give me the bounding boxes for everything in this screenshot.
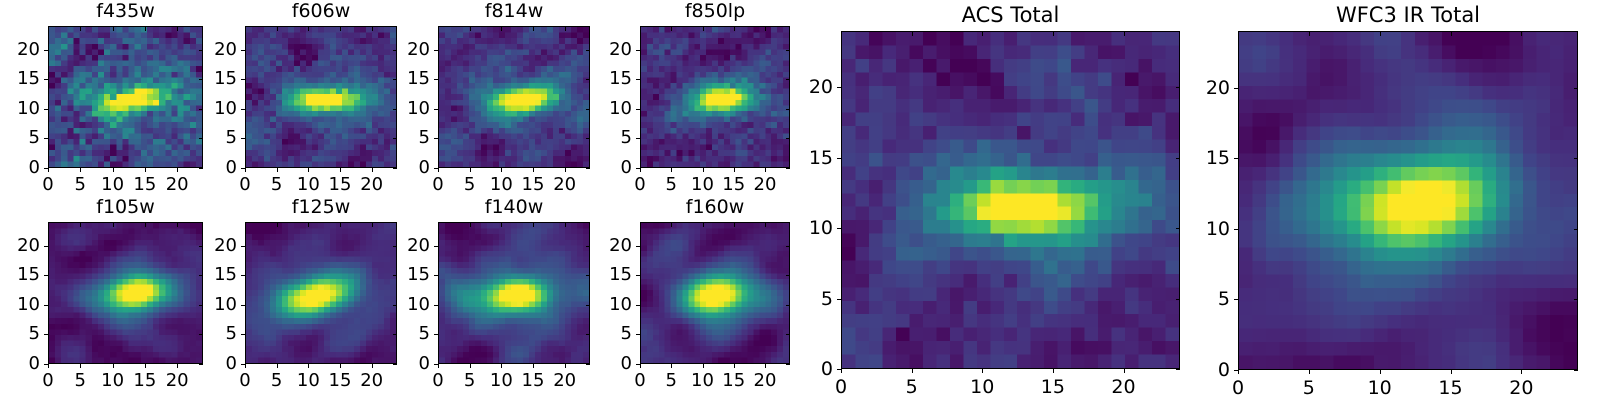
heatmap-canvas-f814w bbox=[439, 27, 589, 167]
heatmap-canvas-acs-total bbox=[842, 32, 1179, 368]
yticklabel-f814w-10: 10 bbox=[366, 100, 430, 118]
xtick-top-f606w-20 bbox=[372, 27, 373, 31]
ytick-wfc3-ir-total-10 bbox=[1234, 229, 1238, 230]
xtick-top-wfc3-ir-total-5 bbox=[1309, 32, 1310, 36]
xtick-top-acs-total-10 bbox=[982, 32, 983, 36]
ytick-f125w-5 bbox=[241, 334, 245, 335]
xtick-top-f105w-0 bbox=[48, 223, 49, 227]
xtick-top-acs-total-5 bbox=[912, 32, 913, 36]
xtick-f140w-5 bbox=[470, 364, 471, 368]
yticklabel-f140w-15: 15 bbox=[366, 266, 430, 284]
yticklabel-wfc3-ir-total-10: 10 bbox=[1166, 220, 1230, 239]
yticklabel-f105w-0: 0 bbox=[0, 355, 40, 373]
ytick-f105w-0 bbox=[44, 364, 48, 365]
yticklabel-f435w-20: 20 bbox=[0, 41, 40, 59]
yticklabel-f435w-15: 15 bbox=[0, 70, 40, 88]
xtick-top-f140w-20 bbox=[565, 223, 566, 227]
xtick-top-f435w-5 bbox=[80, 27, 81, 31]
xticklabel-f105w-20: 20 bbox=[147, 372, 207, 390]
xtick-f435w-5 bbox=[80, 168, 81, 172]
xtick-f125w-15 bbox=[340, 364, 341, 368]
yticklabel-f140w-10: 10 bbox=[366, 296, 430, 314]
ytick-f125w-10 bbox=[241, 305, 245, 306]
xtick-acs-total-5 bbox=[912, 369, 913, 373]
ytick-f140w-5 bbox=[434, 334, 438, 335]
yticklabel-f160w-5: 5 bbox=[568, 325, 632, 343]
xtick-f814w-20 bbox=[565, 168, 566, 172]
heatmap-canvas-f850lp bbox=[641, 27, 789, 167]
yticklabel-f435w-5: 5 bbox=[0, 129, 40, 147]
ytick-f435w-20 bbox=[44, 50, 48, 51]
ytick-acs-total-10 bbox=[837, 228, 841, 229]
xtick-top-f160w-10 bbox=[703, 223, 704, 227]
xtick-f435w-15 bbox=[145, 168, 146, 172]
xtick-f140w-0 bbox=[438, 364, 439, 368]
xtick-top-f125w-15 bbox=[340, 223, 341, 227]
xtick-top-acs-total-15 bbox=[1053, 32, 1054, 36]
yticklabel-f160w-15: 15 bbox=[568, 266, 632, 284]
ytick-f850lp-0 bbox=[636, 168, 640, 169]
heatmap-image-f160w bbox=[640, 222, 790, 364]
xtick-top-f125w-5 bbox=[277, 223, 278, 227]
panel-title-f140w: f140w bbox=[438, 198, 590, 217]
yticklabel-f105w-10: 10 bbox=[0, 296, 40, 314]
xtick-f125w-5 bbox=[277, 364, 278, 368]
ytick-f606w-20 bbox=[241, 50, 245, 51]
xtick-top-f850lp-5 bbox=[671, 27, 672, 31]
ytick-f814w-20 bbox=[434, 50, 438, 51]
ytick-acs-total-15 bbox=[837, 158, 841, 159]
ytick-f105w-5 bbox=[44, 334, 48, 335]
ytick-f814w-15 bbox=[434, 79, 438, 80]
ytick-right-f850lp-5 bbox=[786, 138, 790, 139]
ytick-f140w-15 bbox=[434, 275, 438, 276]
xticklabel-acs-total-20: 20 bbox=[1094, 378, 1154, 397]
heatmap-image-acs-total bbox=[841, 31, 1180, 369]
ytick-f160w-10 bbox=[636, 305, 640, 306]
xtick-top-f105w-5 bbox=[80, 223, 81, 227]
xtick-acs-total-10 bbox=[982, 369, 983, 373]
yticklabel-f850lp-15: 15 bbox=[568, 70, 632, 88]
heatmap-canvas-wfc3-ir-total bbox=[1239, 32, 1577, 369]
yticklabel-f125w-0: 0 bbox=[173, 355, 237, 373]
ytick-wfc3-ir-total-15 bbox=[1234, 158, 1238, 159]
xtick-f160w-15 bbox=[734, 364, 735, 368]
ytick-f814w-0 bbox=[434, 168, 438, 169]
ytick-right-f160w-20 bbox=[786, 246, 790, 247]
xtick-f814w-5 bbox=[470, 168, 471, 172]
ytick-right-f850lp-10 bbox=[786, 109, 790, 110]
xtick-top-f140w-5 bbox=[470, 223, 471, 227]
xtick-top-f850lp-15 bbox=[734, 27, 735, 31]
ytick-right-f160w-5 bbox=[786, 334, 790, 335]
ytick-acs-total-20 bbox=[837, 87, 841, 88]
xtick-f814w-15 bbox=[533, 168, 534, 172]
heatmap-canvas-f160w bbox=[641, 223, 789, 363]
xtick-f105w-0 bbox=[48, 364, 49, 368]
yticklabel-f125w-10: 10 bbox=[173, 296, 237, 314]
xtick-top-f814w-0 bbox=[438, 27, 439, 31]
yticklabel-f125w-5: 5 bbox=[173, 325, 237, 343]
xtick-f814w-10 bbox=[501, 168, 502, 172]
yticklabel-acs-total-20: 20 bbox=[769, 78, 833, 97]
yticklabel-f160w-20: 20 bbox=[568, 237, 632, 255]
panel-title-wfc3-ir-total: WFC3 IR Total bbox=[1238, 5, 1578, 26]
xtick-wfc3-ir-total-10 bbox=[1380, 370, 1381, 374]
yticklabel-wfc3-ir-total-15: 15 bbox=[1166, 149, 1230, 168]
xtick-f125w-10 bbox=[308, 364, 309, 368]
xtick-top-f160w-0 bbox=[640, 223, 641, 227]
xtick-wfc3-ir-total-0 bbox=[1238, 370, 1239, 374]
xtick-f140w-15 bbox=[533, 364, 534, 368]
xtick-acs-total-15 bbox=[1053, 369, 1054, 373]
xtick-wfc3-ir-total-20 bbox=[1521, 370, 1522, 374]
xtick-top-f606w-0 bbox=[245, 27, 246, 31]
ytick-f125w-15 bbox=[241, 275, 245, 276]
ytick-f850lp-10 bbox=[636, 109, 640, 110]
ytick-f814w-5 bbox=[434, 138, 438, 139]
xtick-top-f814w-15 bbox=[533, 27, 534, 31]
panel-title-f814w: f814w bbox=[438, 2, 590, 21]
ytick-f606w-15 bbox=[241, 79, 245, 80]
ytick-f140w-10 bbox=[434, 305, 438, 306]
yticklabel-f435w-10: 10 bbox=[0, 100, 40, 118]
yticklabel-f606w-0: 0 bbox=[173, 159, 237, 177]
xtick-top-f105w-15 bbox=[145, 223, 146, 227]
xtick-wfc3-ir-total-5 bbox=[1309, 370, 1310, 374]
xticklabel-f125w-20: 20 bbox=[342, 372, 402, 390]
yticklabel-f105w-5: 5 bbox=[0, 325, 40, 343]
yticklabel-f105w-15: 15 bbox=[0, 266, 40, 284]
xticklabel-wfc3-ir-total-15: 15 bbox=[1421, 379, 1481, 398]
ytick-acs-total-0 bbox=[837, 369, 841, 370]
ytick-f160w-5 bbox=[636, 334, 640, 335]
xtick-f606w-0 bbox=[245, 168, 246, 172]
yticklabel-f105w-20: 20 bbox=[0, 237, 40, 255]
xtick-f606w-15 bbox=[340, 168, 341, 172]
xtick-f140w-10 bbox=[501, 364, 502, 368]
ytick-f435w-0 bbox=[44, 168, 48, 169]
xtick-wfc3-ir-total-15 bbox=[1451, 370, 1452, 374]
ytick-right-f160w-15 bbox=[786, 275, 790, 276]
xtick-top-f125w-20 bbox=[372, 223, 373, 227]
yticklabel-f140w-0: 0 bbox=[366, 355, 430, 373]
panel-title-f105w: f105w bbox=[48, 198, 203, 217]
yticklabel-f814w-5: 5 bbox=[366, 129, 430, 147]
panel-title-f125w: f125w bbox=[245, 198, 397, 217]
xtick-top-f140w-10 bbox=[501, 223, 502, 227]
xticklabel-wfc3-ir-total-5: 5 bbox=[1279, 379, 1339, 398]
xticklabel-f606w-20: 20 bbox=[342, 176, 402, 194]
ytick-f435w-15 bbox=[44, 79, 48, 80]
heatmap-canvas-f140w bbox=[439, 223, 589, 363]
xtick-f850lp-15 bbox=[734, 168, 735, 172]
yticklabel-f814w-15: 15 bbox=[366, 70, 430, 88]
xtick-top-f814w-20 bbox=[565, 27, 566, 31]
xtick-f160w-20 bbox=[765, 364, 766, 368]
xtick-top-f160w-20 bbox=[765, 223, 766, 227]
xtick-top-f814w-10 bbox=[501, 27, 502, 31]
xtick-top-f606w-10 bbox=[308, 27, 309, 31]
panel-title-f850lp: f850lp bbox=[640, 2, 790, 21]
xtick-top-f105w-10 bbox=[113, 223, 114, 227]
yticklabel-f814w-20: 20 bbox=[366, 41, 430, 59]
xtick-top-wfc3-ir-total-20 bbox=[1521, 32, 1522, 36]
yticklabel-wfc3-ir-total-0: 0 bbox=[1166, 361, 1230, 380]
ytick-right-wfc3-ir-total-5 bbox=[1574, 299, 1578, 300]
xtick-f850lp-5 bbox=[671, 168, 672, 172]
xtick-f140w-20 bbox=[565, 364, 566, 368]
xticklabel-wfc3-ir-total-10: 10 bbox=[1350, 379, 1410, 398]
yticklabel-f850lp-10: 10 bbox=[568, 100, 632, 118]
xtick-top-wfc3-ir-total-15 bbox=[1451, 32, 1452, 36]
xticklabel-wfc3-ir-total-0: 0 bbox=[1208, 379, 1268, 398]
yticklabel-f850lp-20: 20 bbox=[568, 41, 632, 59]
xtick-f850lp-10 bbox=[703, 168, 704, 172]
ytick-f814w-10 bbox=[434, 109, 438, 110]
ytick-right-wfc3-ir-total-20 bbox=[1574, 88, 1578, 89]
xtick-f105w-10 bbox=[113, 364, 114, 368]
yticklabel-f125w-15: 15 bbox=[173, 266, 237, 284]
yticklabel-f814w-0: 0 bbox=[366, 159, 430, 177]
yticklabel-f606w-10: 10 bbox=[173, 100, 237, 118]
xticklabel-f850lp-20: 20 bbox=[735, 176, 795, 194]
xtick-top-acs-total-0 bbox=[841, 32, 842, 36]
xtick-top-f606w-15 bbox=[340, 27, 341, 31]
yticklabel-acs-total-10: 10 bbox=[769, 219, 833, 238]
panel-title-f160w: f160w bbox=[640, 198, 790, 217]
xtick-top-f435w-20 bbox=[177, 27, 178, 31]
yticklabel-f160w-10: 10 bbox=[568, 296, 632, 314]
yticklabel-f606w-5: 5 bbox=[173, 129, 237, 147]
ytick-f435w-10 bbox=[44, 109, 48, 110]
xtick-f814w-0 bbox=[438, 168, 439, 172]
panel-title-acs-total: ACS Total bbox=[841, 5, 1180, 26]
xtick-f850lp-0 bbox=[640, 168, 641, 172]
xticklabel-acs-total-0: 0 bbox=[811, 378, 871, 397]
yticklabel-f140w-5: 5 bbox=[366, 325, 430, 343]
yticklabel-f606w-15: 15 bbox=[173, 70, 237, 88]
ytick-f606w-10 bbox=[241, 109, 245, 110]
xtick-f160w-10 bbox=[703, 364, 704, 368]
ytick-f850lp-5 bbox=[636, 138, 640, 139]
ytick-f140w-0 bbox=[434, 364, 438, 365]
xtick-top-f140w-15 bbox=[533, 223, 534, 227]
ytick-f160w-0 bbox=[636, 364, 640, 365]
yticklabel-acs-total-0: 0 bbox=[769, 360, 833, 379]
xtick-f435w-10 bbox=[113, 168, 114, 172]
panel-title-f606w: f606w bbox=[245, 2, 397, 21]
xtick-top-f435w-0 bbox=[48, 27, 49, 31]
xtick-top-f850lp-0 bbox=[640, 27, 641, 31]
ytick-f850lp-20 bbox=[636, 50, 640, 51]
xtick-top-f160w-5 bbox=[671, 223, 672, 227]
figure-canvas: f435w0510152005101520f606w05101520051015… bbox=[0, 0, 1600, 400]
yticklabel-wfc3-ir-total-20: 20 bbox=[1166, 79, 1230, 98]
yticklabel-f850lp-0: 0 bbox=[568, 159, 632, 177]
ytick-f160w-20 bbox=[636, 246, 640, 247]
ytick-f435w-5 bbox=[44, 138, 48, 139]
ytick-f105w-20 bbox=[44, 246, 48, 247]
ytick-f105w-15 bbox=[44, 275, 48, 276]
ytick-right-f850lp-0 bbox=[786, 168, 790, 169]
ytick-f160w-15 bbox=[636, 275, 640, 276]
ytick-right-wfc3-ir-total-10 bbox=[1574, 229, 1578, 230]
xtick-f160w-0 bbox=[640, 364, 641, 368]
yticklabel-f160w-0: 0 bbox=[568, 355, 632, 373]
xtick-top-f850lp-10 bbox=[703, 27, 704, 31]
xticklabel-acs-total-5: 5 bbox=[882, 378, 942, 397]
yticklabel-f125w-20: 20 bbox=[173, 237, 237, 255]
xtick-top-f850lp-20 bbox=[765, 27, 766, 31]
xticklabel-f814w-20: 20 bbox=[535, 176, 595, 194]
xtick-top-f160w-15 bbox=[734, 223, 735, 227]
xtick-acs-total-0 bbox=[841, 369, 842, 373]
yticklabel-acs-total-15: 15 bbox=[769, 149, 833, 168]
ytick-wfc3-ir-total-5 bbox=[1234, 299, 1238, 300]
xtick-f850lp-20 bbox=[765, 168, 766, 172]
xtick-top-f125w-0 bbox=[245, 223, 246, 227]
ytick-f125w-20 bbox=[241, 246, 245, 247]
xtick-acs-total-20 bbox=[1124, 369, 1125, 373]
xtick-top-f105w-20 bbox=[177, 223, 178, 227]
ytick-f606w-0 bbox=[241, 168, 245, 169]
ytick-wfc3-ir-total-20 bbox=[1234, 88, 1238, 89]
ytick-right-f850lp-20 bbox=[786, 50, 790, 51]
xtick-top-f435w-15 bbox=[145, 27, 146, 31]
heatmap-image-f850lp bbox=[640, 26, 790, 168]
yticklabel-f140w-20: 20 bbox=[366, 237, 430, 255]
xtick-f105w-5 bbox=[80, 364, 81, 368]
xtick-top-f125w-10 bbox=[308, 223, 309, 227]
ytick-f125w-0 bbox=[241, 364, 245, 365]
xtick-f606w-5 bbox=[277, 168, 278, 172]
ytick-f850lp-15 bbox=[636, 79, 640, 80]
xticklabel-f435w-20: 20 bbox=[147, 176, 207, 194]
ytick-wfc3-ir-total-0 bbox=[1234, 370, 1238, 371]
xtick-top-f435w-10 bbox=[113, 27, 114, 31]
xticklabel-wfc3-ir-total-20: 20 bbox=[1491, 379, 1551, 398]
yticklabel-f850lp-5: 5 bbox=[568, 129, 632, 147]
heatmap-image-wfc3-ir-total bbox=[1238, 31, 1578, 370]
ytick-right-wfc3-ir-total-0 bbox=[1574, 370, 1578, 371]
xtick-f435w-0 bbox=[48, 168, 49, 172]
xtick-top-wfc3-ir-total-0 bbox=[1238, 32, 1239, 36]
ytick-f105w-10 bbox=[44, 305, 48, 306]
xticklabel-acs-total-15: 15 bbox=[1023, 378, 1083, 397]
yticklabel-wfc3-ir-total-5: 5 bbox=[1166, 290, 1230, 309]
xtick-f160w-5 bbox=[671, 364, 672, 368]
ytick-f140w-20 bbox=[434, 246, 438, 247]
ytick-f606w-5 bbox=[241, 138, 245, 139]
xtick-top-acs-total-20 bbox=[1124, 32, 1125, 36]
xtick-top-f606w-5 bbox=[277, 27, 278, 31]
xticklabel-acs-total-10: 10 bbox=[952, 378, 1012, 397]
panel-title-f435w: f435w bbox=[48, 2, 203, 21]
yticklabel-f606w-20: 20 bbox=[173, 41, 237, 59]
xtick-top-wfc3-ir-total-10 bbox=[1380, 32, 1381, 36]
xtick-f606w-10 bbox=[308, 168, 309, 172]
xtick-top-f814w-5 bbox=[470, 27, 471, 31]
xticklabel-f140w-20: 20 bbox=[535, 372, 595, 390]
xtick-f105w-15 bbox=[145, 364, 146, 368]
xtick-top-f140w-0 bbox=[438, 223, 439, 227]
ytick-right-wfc3-ir-total-15 bbox=[1574, 158, 1578, 159]
yticklabel-f435w-0: 0 bbox=[0, 159, 40, 177]
xtick-f125w-0 bbox=[245, 364, 246, 368]
yticklabel-acs-total-5: 5 bbox=[769, 290, 833, 309]
ytick-acs-total-5 bbox=[837, 299, 841, 300]
